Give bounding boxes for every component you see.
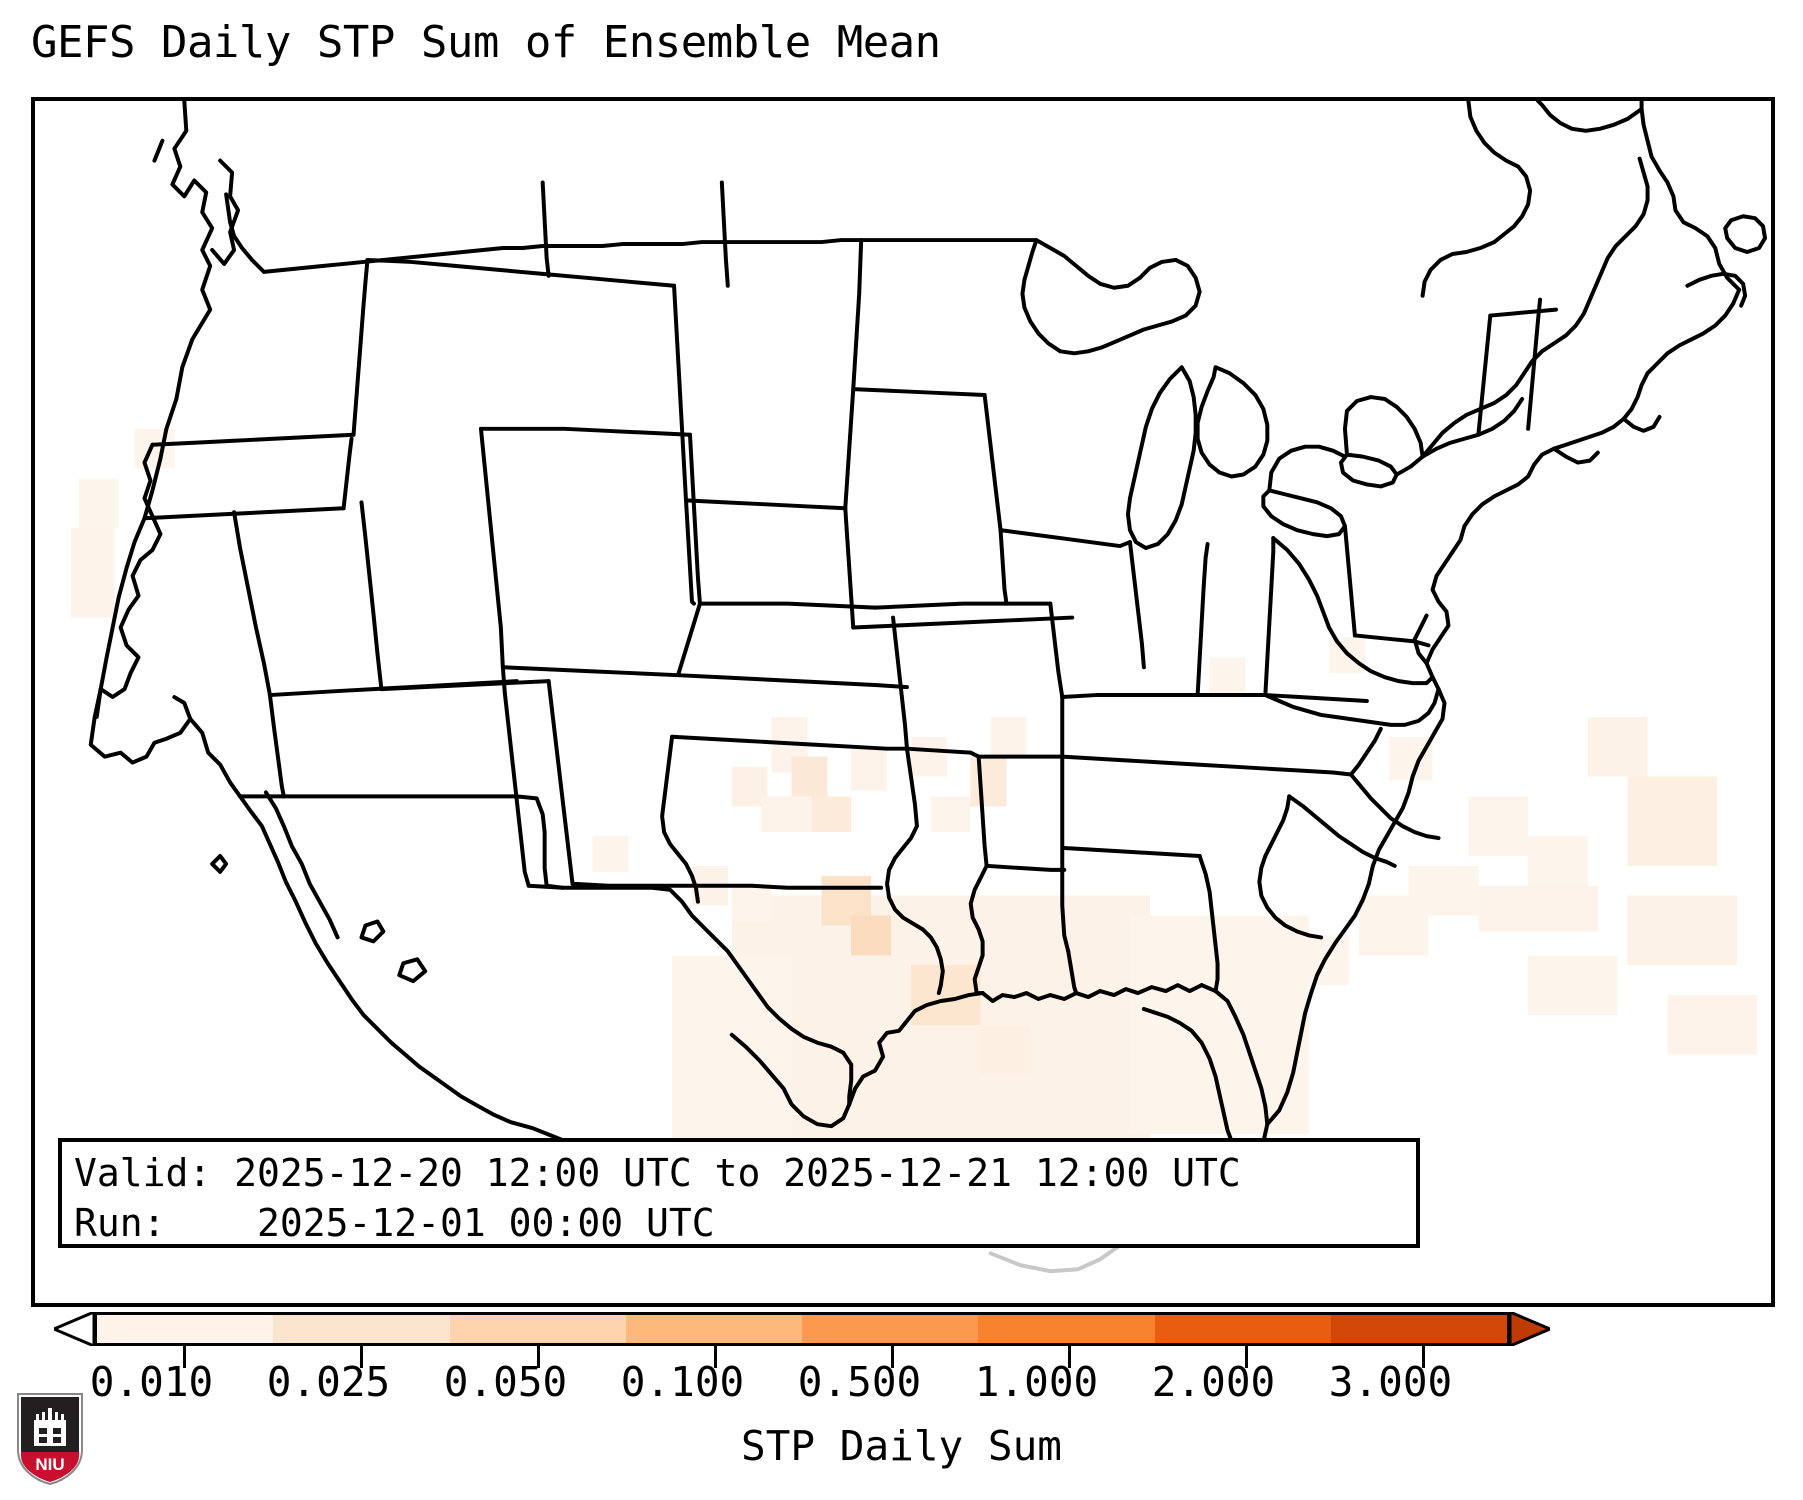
colorbar-label-6: 2.000 bbox=[1152, 1356, 1275, 1408]
niu-logo: NIU bbox=[14, 1390, 86, 1486]
colorbar-segment-5 bbox=[978, 1315, 1154, 1343]
colorbar-label-3: 0.100 bbox=[621, 1356, 744, 1408]
colorbar-segment-3 bbox=[626, 1315, 802, 1343]
run-time-line: Run: 2025-12-01 00:00 UTC bbox=[74, 1198, 1416, 1248]
colorbar-segment-6 bbox=[1155, 1315, 1331, 1343]
colorbar-segment-0 bbox=[97, 1315, 273, 1343]
colorbar-gradient bbox=[94, 1312, 1510, 1346]
map-panel bbox=[31, 97, 1775, 1307]
niu-logo-text: NIU bbox=[35, 1455, 64, 1474]
valid-time-line: Valid: 2025-12-20 12:00 UTC to 2025-12-2… bbox=[74, 1148, 1416, 1198]
colorbar-axis-label: STP Daily Sum bbox=[0, 1420, 1803, 1472]
colorbar-segment-1 bbox=[273, 1315, 449, 1343]
colorbar-label-4: 0.500 bbox=[798, 1356, 921, 1408]
forecast-info-box: Valid: 2025-12-20 12:00 UTC to 2025-12-2… bbox=[58, 1138, 1420, 1248]
colorbar-label-0: 0.010 bbox=[90, 1356, 213, 1408]
colorbar-segment-2 bbox=[450, 1315, 626, 1343]
colorbar-tick-labels: 0.0100.0250.0500.1000.5001.0002.0003.000 bbox=[0, 1356, 1744, 1412]
colorbar-over-arrow bbox=[1510, 1312, 1550, 1346]
colorbar bbox=[31, 1312, 1775, 1352]
page-title: GEFS Daily STP Sum of Ensemble Mean bbox=[31, 14, 941, 72]
colorbar-label-5: 1.000 bbox=[975, 1356, 1098, 1408]
colorbar-under-arrow bbox=[54, 1312, 94, 1346]
colorbar-label-1: 0.025 bbox=[267, 1356, 390, 1408]
colorbar-segment-4 bbox=[802, 1315, 978, 1343]
colorbar-segment-7 bbox=[1331, 1315, 1507, 1343]
colorbar-label-2: 0.050 bbox=[444, 1356, 567, 1408]
colorbar-label-7: 3.000 bbox=[1329, 1356, 1452, 1408]
basemap-outlines bbox=[35, 101, 1771, 1303]
